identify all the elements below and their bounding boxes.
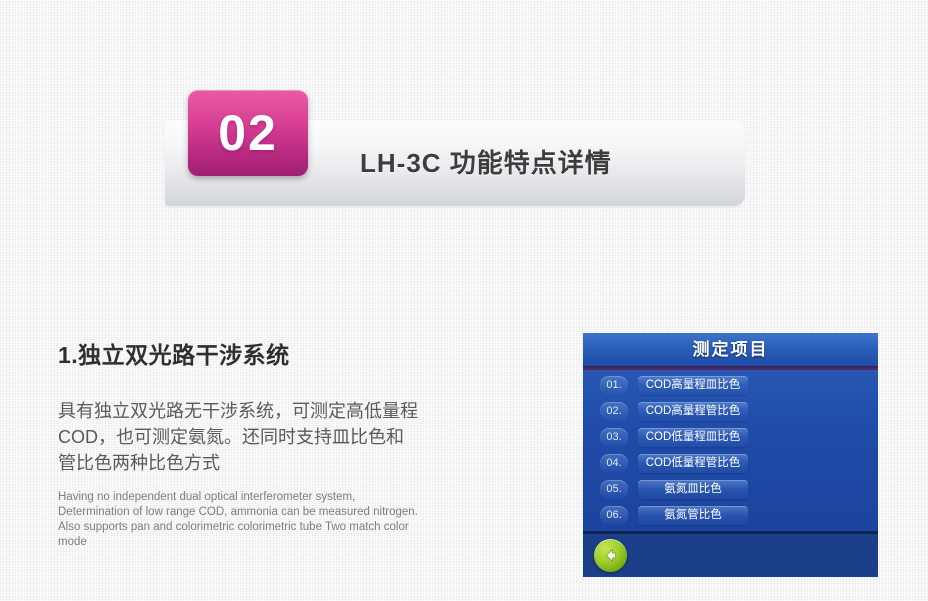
feature-description-english: Having no independent dual optical inter… [58, 490, 430, 550]
feature-block: 1.独立双光路干涉系统 具有独立双光路无干涉系统，可测定高低量程COD，也可测定… [58, 336, 433, 550]
list-item-label[interactable]: COD高量程管比色 [638, 402, 748, 421]
device-screen-panel: 测定项目 01. COD高量程皿比色 02. COD高量程管比色 03. COD… [583, 333, 878, 577]
list-item[interactable]: 03. COD低量程皿比色 [583, 426, 878, 452]
list-item[interactable]: 01. COD高量程皿比色 [583, 374, 878, 400]
list-item-number: 03. [600, 428, 628, 447]
panel-footer [583, 534, 878, 577]
measurement-item-list: 01. COD高量程皿比色 02. COD高量程管比色 03. COD低量程皿比… [583, 374, 878, 530]
list-item-number: 04. [600, 454, 628, 473]
list-item-label[interactable]: 氨氮皿比色 [638, 480, 748, 499]
list-item[interactable]: 05. 氨氮皿比色 [583, 478, 878, 504]
feature-heading: 1.独立双光路干涉系统 [58, 336, 433, 370]
list-item[interactable]: 04. COD低量程管比色 [583, 452, 878, 478]
list-item-label[interactable]: 氨氮管比色 [638, 506, 748, 525]
section-number-badge-label: 02 [188, 90, 308, 176]
feature-description-chinese: 具有独立双光路无干涉系统，可测定高低量程COD，也可测定氨氮。还同时支持皿比色和… [58, 398, 420, 476]
section-number-badge: 02 [188, 90, 308, 176]
panel-header-divider [583, 366, 878, 370]
list-item-label[interactable]: COD高量程皿比色 [638, 376, 748, 395]
list-item-number: 05. [600, 480, 628, 499]
back-arrow-icon [601, 546, 620, 565]
back-button[interactable] [594, 539, 627, 572]
panel-header: 测定项目 [583, 333, 878, 366]
panel-header-title: 测定项目 [583, 333, 878, 366]
section-banner-title: LH-3C 功能特点详情 [360, 120, 612, 206]
list-item-label[interactable]: COD低量程皿比色 [638, 428, 748, 447]
list-item-number: 01. [600, 376, 628, 395]
list-item[interactable]: 06. 氨氮管比色 [583, 504, 878, 530]
list-item-label[interactable]: COD低量程管比色 [638, 454, 748, 473]
list-item[interactable]: 02. COD高量程管比色 [583, 400, 878, 426]
list-item-number: 06. [600, 506, 628, 525]
list-item-number: 02. [600, 402, 628, 421]
